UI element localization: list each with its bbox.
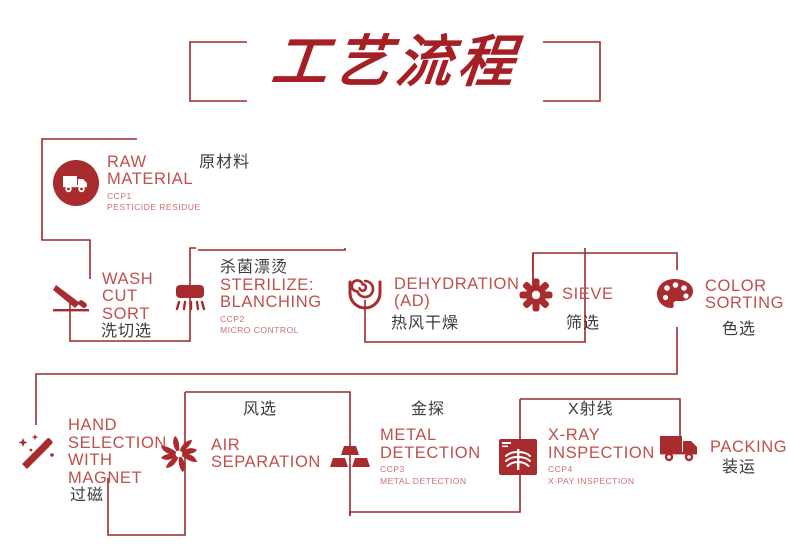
step-color-sorting-chinese: 色选 [722,320,756,339]
step-packing-chinese: 装运 [722,458,756,477]
step-sterilize-blanching-chinese: 杀菌漂烫 [220,258,322,277]
step-raw-material-text: RAW MATERIAL 原材料 CCP1 PESTICIDE RESIDUE [107,153,250,214]
process-flow-diagram: 工艺流程 RAW MATERIAL 原材料 CCP1 PESTICIDE RES… [0,0,790,551]
step-air-separation-chinese: 风选 [243,400,277,419]
magic-wand-magnet-icon [14,430,60,474]
step-metal-detection-ccp: CCP3 METAL DETECTION [380,464,481,487]
step-air-separation[interactable]: AIR SEPARATION [155,430,330,478]
step-dehydration-chinese: 热风干燥 [391,314,459,333]
step-air-separation-text: AIR SEPARATION [211,437,321,472]
step-wash-cut-sort-text: WASH CUT SORT [102,271,153,324]
step-wash-cut-sort-chinese: 洗切选 [101,322,152,341]
step-metal-detection-text: METAL DETECTION CCP3 METAL DETECTION [380,427,481,487]
step-raw-material[interactable]: RAW MATERIAL 原材料 CCP1 PESTICIDE RESIDUE [53,152,313,214]
step-metal-detection-chinese: 金探 [411,400,445,419]
step-xray-inspection[interactable]: X-RAY INSPECTION CCP4 X-PAY INSPECTION [496,424,666,490]
step-xray-inspection-chinese: X射线 [568,400,614,419]
step-sterilize-blanching-english: STERILIZE: BLANCHING [220,277,322,312]
palette-icon [655,277,697,313]
gear-icon [518,277,554,313]
step-hand-selection-magnet-text: HAND SELECTION WITH MAGNET [68,417,167,487]
step-metal-detection[interactable]: METAL DETECTION CCP3 METAL DETECTION [328,424,498,490]
step-dehydration[interactable]: DEHYDRATION (AD) [344,268,524,318]
step-sterilize-blanching-text: 杀菌漂烫 STERILIZE: BLANCHING CCP2 MICRO CON… [220,258,322,337]
page-title: 工艺流程 [182,28,609,98]
step-xray-inspection-english: X-RAY INSPECTION [548,427,655,462]
step-color-sorting-english: COLOR SORTING [705,278,784,313]
truck-icon [658,431,702,465]
step-sieve-english: SIEVE [562,286,614,304]
step-sterilize-blanching-ccp: CCP2 MICRO CONTROL [220,314,322,337]
title-block: 工艺流程 [186,28,606,106]
knife-icon [48,277,94,317]
step-color-sorting[interactable]: COLOR SORTING [655,270,790,320]
step-packing-text: PACKING [710,439,787,457]
step-color-sorting-text: COLOR SORTING [705,278,784,313]
step-dehydration-english: DEHYDRATION (AD) [394,276,519,311]
truck-circle-icon [53,160,99,206]
spiral-dryer-icon [344,274,386,312]
step-hand-selection-magnet-english: HAND SELECTION WITH MAGNET [68,417,167,487]
step-sieve-text: SIEVE [562,286,614,304]
fan-pinwheel-icon [155,431,203,477]
xray-ribcage-icon [496,436,540,478]
step-raw-material-chinese: 原材料 [199,153,250,172]
sterilizer-icon [168,276,212,318]
step-metal-detection-english: METAL DETECTION [380,427,481,462]
step-xray-inspection-text: X-RAY INSPECTION CCP4 X-PAY INSPECTION [548,427,655,487]
step-air-separation-english: AIR SEPARATION [211,437,321,472]
step-dehydration-text: DEHYDRATION (AD) [394,276,519,311]
step-sieve[interactable]: SIEVE [518,275,638,315]
step-xray-inspection-ccp: CCP4 X-PAY INSPECTION [548,464,655,487]
step-sieve-chinese: 筛选 [566,314,600,333]
step-packing-english: PACKING [710,439,787,457]
gold-bars-icon [328,438,372,476]
step-wash-cut-sort-english: WASH CUT SORT [102,271,153,324]
connector-dehydration-to-sieve [198,248,345,250]
step-raw-material-english: RAW MATERIAL [107,154,193,189]
step-hand-selection-magnet-chinese: 过磁 [70,486,104,505]
step-raw-material-ccp: CCP1 PESTICIDE RESIDUE [107,191,250,214]
step-sterilize-blanching[interactable]: 杀菌漂烫 STERILIZE: BLANCHING CCP2 MICRO CON… [168,262,358,332]
